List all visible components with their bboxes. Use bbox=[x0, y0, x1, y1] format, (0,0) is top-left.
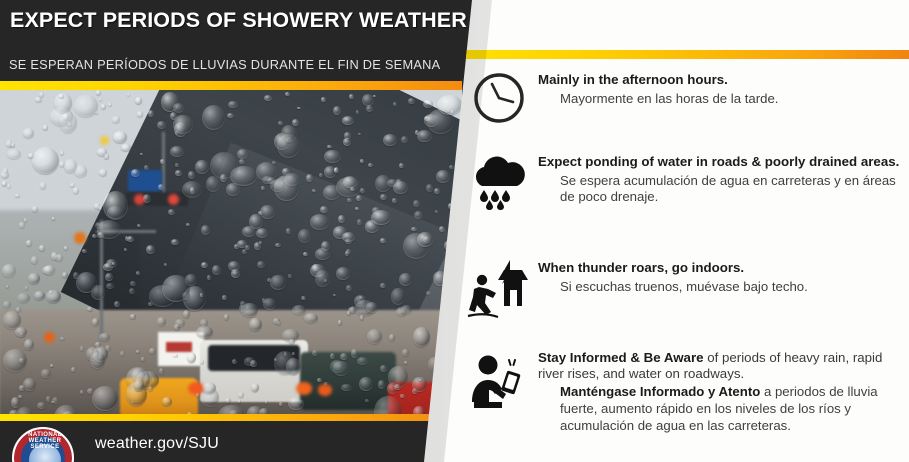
bullet-row-thunder: When thunder roars, go indoors. Si escuc… bbox=[460, 258, 900, 320]
bullet-row-stay-informed: Stay Informed & Be Aware of periods of h… bbox=[460, 348, 900, 435]
bullet-es-text: Si escuchas truenos, muévase bajo techo. bbox=[538, 279, 808, 296]
bullet-es-text: Manténgase Informado y Atento a periodos… bbox=[538, 384, 900, 435]
bullet-row-ponding: Expect ponding of water in roads & poorl… bbox=[460, 152, 900, 214]
bullet-en-text: When thunder roars, go indoors. bbox=[538, 260, 808, 276]
person-with-phone-icon bbox=[460, 348, 538, 410]
person-running-to-house-lightning-icon bbox=[460, 258, 538, 320]
bullet-es-text: Mayormente en las horas de la tarde. bbox=[538, 91, 778, 108]
bullet-en-text: Stay Informed & Be Aware of periods of h… bbox=[538, 350, 900, 381]
bullet-list: Mainly in the afternoon hours. Mayorment… bbox=[0, 0, 909, 462]
clock-icon bbox=[460, 70, 538, 126]
infographic-canvas: NATIONAL WEATHER SERVICE weather.gov/SJU… bbox=[0, 0, 909, 462]
bullet-es-text: Se espera acumulación de agua en carrete… bbox=[538, 173, 900, 207]
bullet-en-text: Mainly in the afternoon hours. bbox=[538, 72, 778, 88]
rain-cloud-icon bbox=[460, 152, 538, 214]
bullet-en-text: Expect ponding of water in roads & poorl… bbox=[538, 154, 900, 170]
bullet-row-afternoon: Mainly in the afternoon hours. Mayorment… bbox=[460, 70, 900, 126]
